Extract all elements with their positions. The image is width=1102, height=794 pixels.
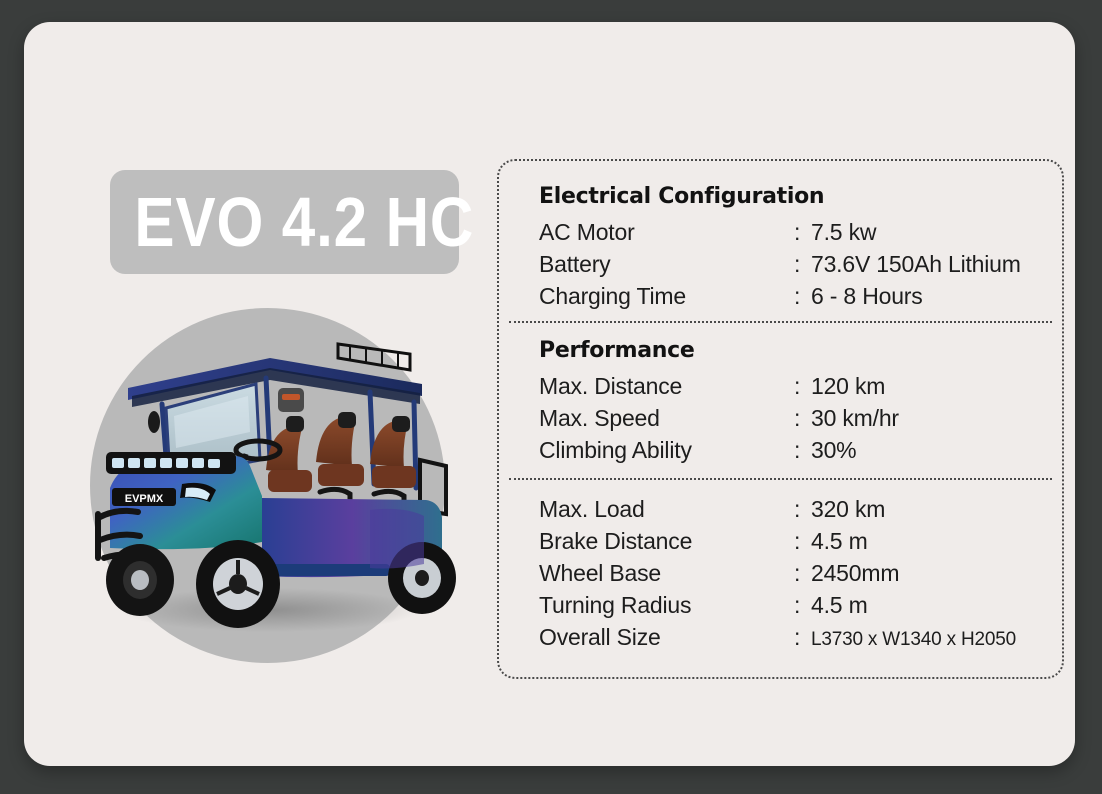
spec-label: AC Motor xyxy=(539,216,794,248)
spec-separator: : xyxy=(794,216,811,248)
spec-label: Overall Size xyxy=(539,621,794,653)
model-name-badge: EVO 4.2 HC xyxy=(110,170,459,274)
spec-value: 30% xyxy=(811,434,856,466)
spec-separator: : xyxy=(794,370,811,402)
spec-label: Brake Distance xyxy=(539,525,794,557)
section-divider-2 xyxy=(509,478,1052,480)
spec-row: Brake Distance : 4.5 m xyxy=(539,525,1062,557)
section-title: Electrical Configuration xyxy=(539,183,1062,211)
spec-label: Turning Radius xyxy=(539,589,794,621)
spec-value: 2450mm xyxy=(811,557,899,589)
spec-row: Charging Time : 6 - 8 Hours xyxy=(539,280,1062,312)
spec-value: 7.5 kw xyxy=(811,216,876,248)
spec-value: L3730 x W1340 x H2050 xyxy=(811,624,1016,656)
spec-section-dimensions: Max. Load : 320 km Brake Distance : 4.5 … xyxy=(499,493,1062,653)
golf-cart-illustration: EVPMX xyxy=(70,292,470,662)
spec-separator: : xyxy=(794,493,811,525)
spec-row: Wheel Base : 2450mm xyxy=(539,557,1062,589)
product-photo: EVPMX xyxy=(70,292,470,662)
spec-separator: : xyxy=(794,525,811,557)
spec-label: Max. Load xyxy=(539,493,794,525)
spec-row: Battery : 73.6V 150Ah Lithium xyxy=(539,248,1062,280)
section-title: Performance xyxy=(539,337,1062,365)
spec-label: Charging Time xyxy=(539,280,794,312)
section-divider-1 xyxy=(509,321,1052,323)
spec-value: 30 km/hr xyxy=(811,402,899,434)
spec-label: Climbing Ability xyxy=(539,434,794,466)
spec-value: 6 - 8 Hours xyxy=(811,280,923,312)
spec-separator: : xyxy=(794,621,811,653)
spec-section-electrical-configuration: Electrical Configuration AC Motor : 7.5 … xyxy=(499,183,1062,312)
spec-separator: : xyxy=(794,557,811,589)
spec-row: Max. Speed : 30 km/hr xyxy=(539,402,1062,434)
spec-row: Overall Size : L3730 x W1340 x H2050 xyxy=(539,621,1062,653)
spec-separator: : xyxy=(794,402,811,434)
model-name-label: EVO 4.2 HC xyxy=(134,187,434,257)
spec-section-performance: Performance Max. Distance : 120 km Max. … xyxy=(499,337,1062,466)
product-card: EVO 4.2 HC xyxy=(24,22,1075,766)
spec-separator: : xyxy=(794,280,811,312)
spec-value: 4.5 m xyxy=(811,589,868,621)
spec-row: AC Motor : 7.5 kw xyxy=(539,216,1062,248)
spec-label: Max. Distance xyxy=(539,370,794,402)
spec-value: 120 km xyxy=(811,370,885,402)
spec-separator: : xyxy=(794,248,811,280)
specification-panel: Electrical Configuration AC Motor : 7.5 … xyxy=(497,159,1064,679)
spec-separator: : xyxy=(794,589,811,621)
spec-sheet-page: EVO 4.2 HC xyxy=(0,0,1102,794)
spec-separator: : xyxy=(794,434,811,466)
spec-label: Battery xyxy=(539,248,794,280)
spec-row: Max. Distance : 120 km xyxy=(539,370,1062,402)
spec-value: 4.5 m xyxy=(811,525,868,557)
spec-value: 320 km xyxy=(811,493,885,525)
spec-label: Wheel Base xyxy=(539,557,794,589)
spec-row: Max. Load : 320 km xyxy=(539,493,1062,525)
spec-value: 73.6V 150Ah Lithium xyxy=(811,248,1021,280)
spec-row: Turning Radius : 4.5 m xyxy=(539,589,1062,621)
spec-label: Max. Speed xyxy=(539,402,794,434)
spec-row: Climbing Ability : 30% xyxy=(539,434,1062,466)
brand-badge-text: EVPMX xyxy=(125,493,164,505)
